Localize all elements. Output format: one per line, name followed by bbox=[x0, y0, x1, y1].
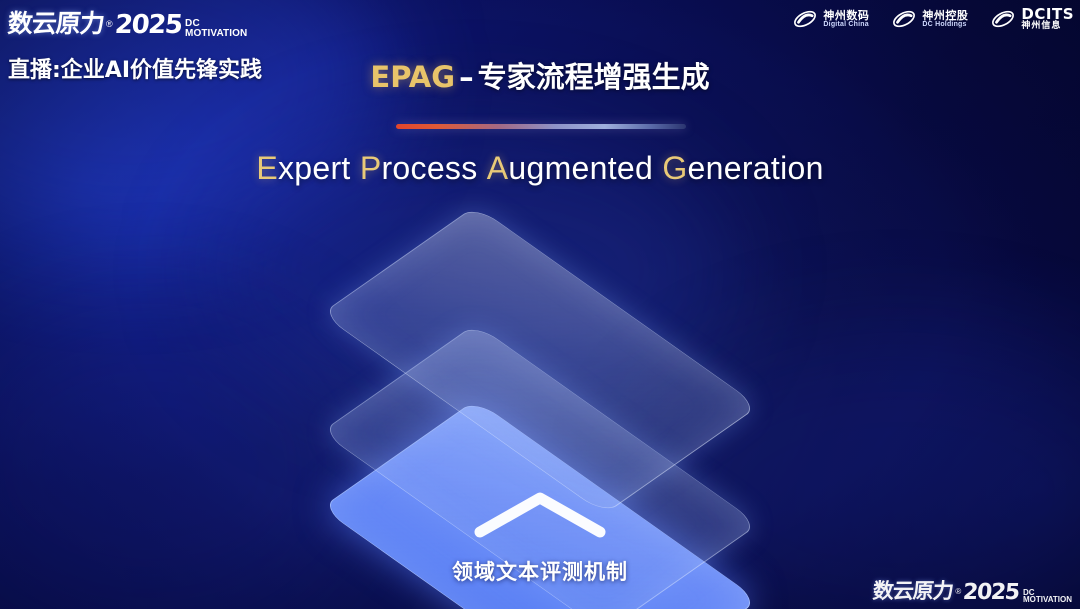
partner-text: 神州控股 DC Holdings bbox=[922, 10, 968, 28]
brand-logo-year: 2025 bbox=[113, 10, 182, 40]
swirl-icon bbox=[990, 6, 1016, 32]
partner-name-en: DCITS bbox=[1021, 7, 1074, 22]
partner-logo-dc-holdings: 神州控股 DC Holdings bbox=[891, 6, 968, 32]
partner-name-cn: 神州数码 bbox=[823, 10, 869, 21]
slide-subtitle: Expert Process Augmented Generation bbox=[0, 150, 1080, 187]
partner-name-en: DC Holdings bbox=[922, 21, 968, 28]
swirl-icon bbox=[792, 6, 818, 32]
footer-brand-logo: 数云原力 ® 2025 DC MOTIVATION bbox=[873, 575, 1072, 605]
partner-logo-digital-china: 神州数码 Digital China bbox=[792, 6, 869, 32]
subtitle-word-process: rocess bbox=[381, 150, 477, 186]
partner-name-cn: 神州信息 bbox=[1021, 22, 1074, 31]
subtitle-initial-a: A bbox=[487, 150, 509, 186]
brand-logo-chinese: 数云原力 bbox=[6, 4, 105, 40]
partner-name-cn: 神州控股 bbox=[922, 10, 968, 21]
footer-logo-registered-mark: ® bbox=[955, 587, 961, 596]
footer-logo-chinese: 数云原力 bbox=[872, 575, 955, 605]
slide-title-chinese: 专家流程增强生成 bbox=[478, 60, 710, 94]
brand-logo-registered-mark: ® bbox=[106, 19, 113, 29]
subtitle-initial-g: G bbox=[662, 150, 687, 186]
footer-logo-subtext-line2: MOTIVATION bbox=[1023, 596, 1072, 604]
slide-title-acronym: EPAG bbox=[370, 60, 455, 94]
subtitle-initial-e: E bbox=[256, 150, 278, 186]
subtitle-word-generation: eneration bbox=[688, 150, 824, 186]
swirl-icon bbox=[891, 6, 917, 32]
stack-layer-top-label: 领域文本评测机制 bbox=[452, 556, 628, 586]
layer-stack-diagram: 领域文本评测机制 Dynamic MOE 长文本记忆 三类语义建模模块 bbox=[300, 228, 780, 568]
subtitle-word-expert: xpert bbox=[278, 150, 351, 186]
partner-logo-dcits: DCITS 神州信息 bbox=[990, 6, 1074, 32]
subtitle-word-augmented: ugmented bbox=[508, 150, 653, 186]
subtitle-initial-p: P bbox=[360, 150, 382, 186]
brand-logo-subtext-line2: MOTIVATION bbox=[185, 29, 247, 39]
partner-logo-row: 神州数码 Digital China 神州控股 DC Holdings DCIT… bbox=[792, 6, 1074, 32]
partner-text: DCITS 神州信息 bbox=[1021, 7, 1074, 31]
footer-logo-year: 2025 bbox=[962, 580, 1020, 605]
slide-canvas: 数云原力 ® 2025 DC MOTIVATION 直播:企业AI价值先锋实践 … bbox=[0, 0, 1080, 609]
slide-title-dash: – bbox=[455, 60, 478, 94]
title-divider bbox=[396, 124, 686, 129]
partner-text: 神州数码 Digital China bbox=[823, 10, 869, 28]
brand-logo: 数云原力 ® 2025 DC MOTIVATION bbox=[8, 4, 247, 40]
partner-name-en: Digital China bbox=[823, 21, 869, 28]
brand-logo-subtext: DC MOTIVATION bbox=[185, 19, 247, 38]
slide-title: EPAG–专家流程增强生成 bbox=[0, 54, 1080, 96]
footer-logo-subtext: DC MOTIVATION bbox=[1023, 589, 1072, 604]
